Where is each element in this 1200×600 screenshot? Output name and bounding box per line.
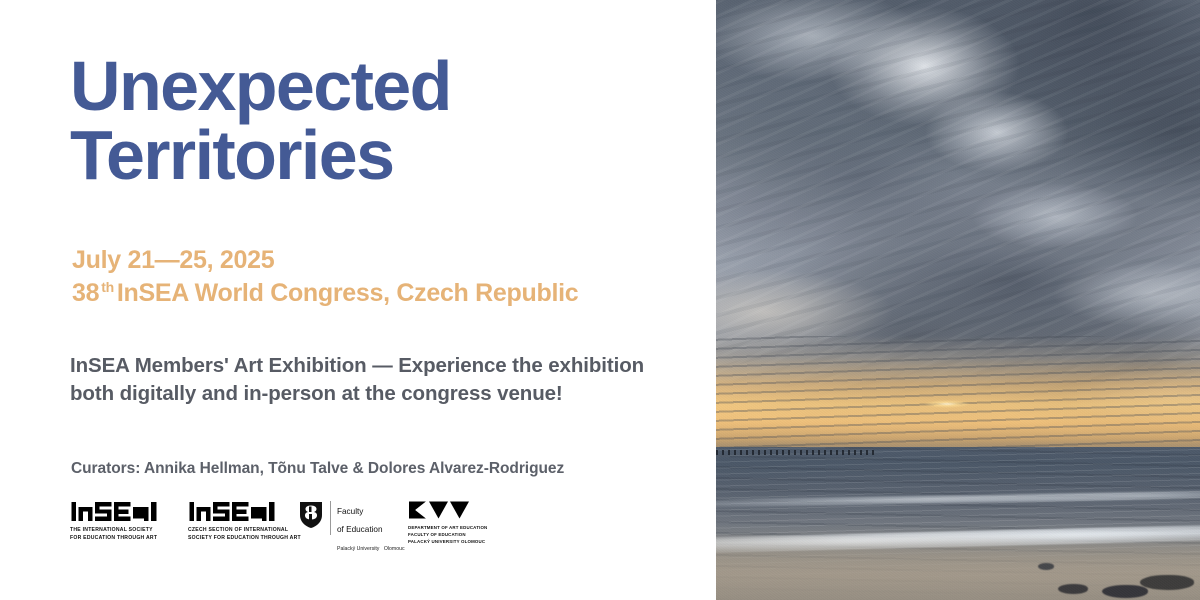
congress-name: InSEA World Congress, Czech Republic: [117, 279, 579, 307]
faculty-university-line-2: Olomouc: [384, 546, 405, 552]
photo-sun-glint: [924, 400, 970, 408]
insea-tagline-line-2: FOR EDUCATION THROUGH ART: [70, 535, 188, 543]
insea-czech-tagline-line-1: CZECH SECTION OF INTERNATIONAL: [188, 527, 298, 535]
event-date-block: July 21—25, 2025 38thInSEA World Congres…: [72, 244, 692, 310]
logo-insea-czech-section: CZECH SECTION OF INTERNATIONAL SOCIETY F…: [188, 500, 298, 542]
photo-rock: [1140, 575, 1194, 590]
faculty-lockup: Faculty of Education Palacký University …: [298, 500, 408, 555]
kvv-tagline-line-3: PALACKÝ UNIVERSITY OLOMOUC: [408, 539, 498, 546]
faculty-title-line-1: Faculty: [337, 507, 363, 516]
faculty-divider: [330, 501, 331, 535]
sunset-seascape-photo: [716, 0, 1200, 600]
poster-canvas: Unexpected Territories July 21—25, 2025 …: [0, 0, 1200, 600]
event-congress-line: 38thInSEA World Congress, Czech Republic: [72, 277, 692, 310]
photo-rock: [1102, 585, 1148, 598]
insea-czech-wordmark-icon: [188, 500, 298, 523]
edition-number: 38: [72, 279, 99, 307]
photo-rock: [1038, 563, 1054, 570]
faculty-university-line-1: Palacký University: [337, 546, 379, 552]
photo-groyne-posts: [716, 450, 876, 455]
logo-kvv-department: DEPARTMENT OF ART EDUCATION FACULTY OF E…: [408, 500, 498, 545]
event-dates: July 21—25, 2025: [72, 244, 692, 277]
page-title: Unexpected Territories: [70, 52, 670, 189]
title-line-1: Unexpected: [70, 52, 670, 121]
kvv-wordmark-icon: [408, 500, 498, 520]
photo-rock: [1058, 584, 1088, 594]
logo-insea-international: THE INTERNATIONAL SOCIETY FOR EDUCATION …: [70, 500, 188, 542]
logo-faculty-of-education: Faculty of Education Palacký University …: [298, 500, 408, 555]
palacky-shield-icon: [298, 500, 324, 530]
faculty-title-line-2: of Education: [337, 525, 383, 534]
kvv-tagline-line-2: FACULTY OF EDUCATION: [408, 532, 498, 539]
insea-tagline-line-1: THE INTERNATIONAL SOCIETY: [70, 527, 188, 535]
kvv-tagline-line-1: DEPARTMENT OF ART EDUCATION: [408, 525, 498, 532]
insea-wordmark-icon: [70, 500, 188, 523]
curators-line: Curators: Annika Hellman, Tõnu Talve & D…: [71, 460, 564, 478]
logo-row: THE INTERNATIONAL SOCIETY FOR EDUCATION …: [70, 500, 498, 556]
faculty-text-block: Faculty of Education Palacký University …: [337, 500, 408, 555]
insea-czech-tagline-line-2: SOCIETY FOR EDUCATION THROUGH ART: [188, 535, 298, 543]
exhibition-description: InSEA Members' Art Exhibition — Experien…: [70, 352, 685, 409]
title-line-2: Territories: [70, 121, 670, 190]
edition-suffix: th: [99, 279, 117, 295]
text-panel: Unexpected Territories July 21—25, 2025 …: [0, 0, 716, 600]
